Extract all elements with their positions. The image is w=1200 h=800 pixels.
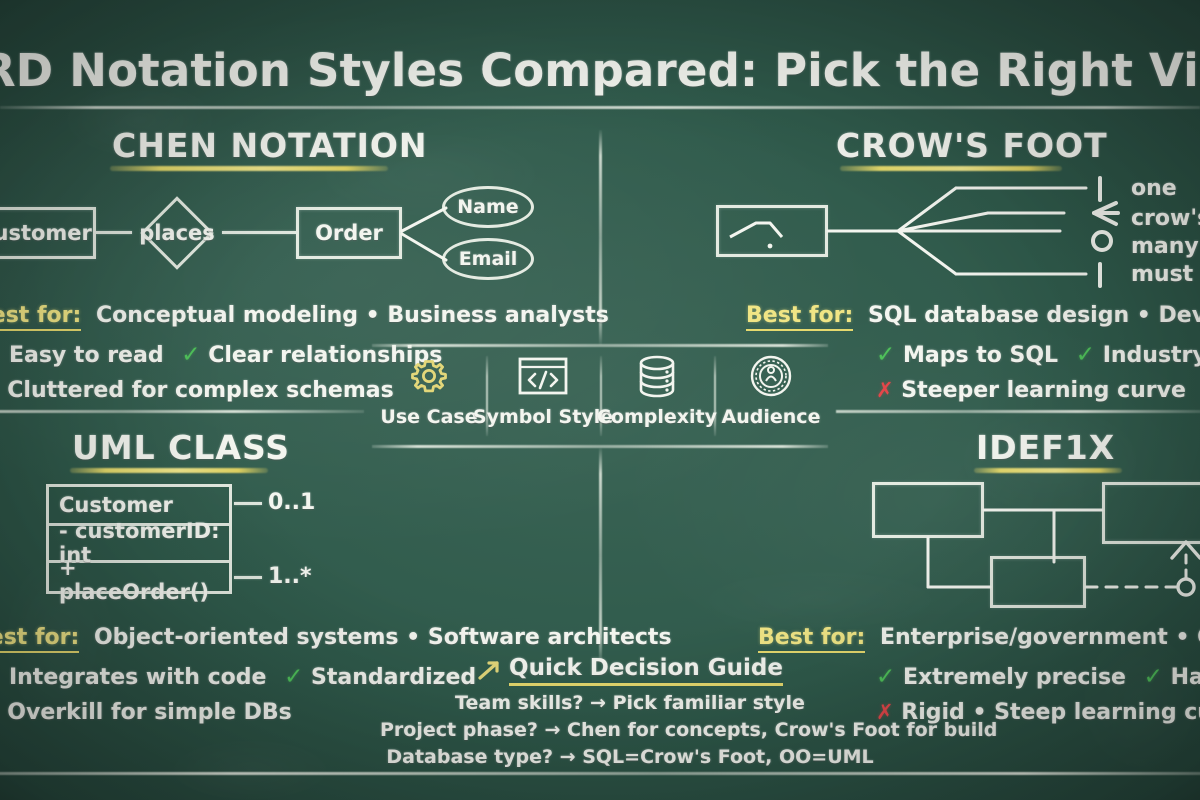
crows-foot-connector-fan — [828, 170, 1108, 295]
panel-label-symbol-style: Symbol Style — [473, 406, 613, 428]
idef1x-pro-1: Extremely precise — [903, 665, 1126, 690]
uml-heading-underline — [70, 468, 268, 473]
crows-foot-legend-must: must — [1131, 262, 1193, 287]
uml-pro-1: Integrates with code — [9, 665, 266, 690]
panel-cell-symbol-style: Symbol Style — [486, 348, 600, 444]
crows-foot-best-for-value: SQL database design • Developers — [868, 303, 1200, 328]
crows-foot-heading: CROW'S FOOT — [836, 126, 1108, 165]
panel-label-use-case: Use Case — [380, 406, 477, 428]
chen-con-1: Cluttered for complex schemas — [7, 378, 393, 403]
chen-pro-1: Easy to read — [9, 343, 164, 368]
chalkboard: ERD Notation Styles Compared: Pick the R… — [0, 0, 1200, 800]
panel-top-border — [372, 344, 828, 347]
check-icon: ✓ — [284, 664, 303, 690]
idef1x-best-for-value: Enterprise/government • Complex systems — [880, 625, 1200, 650]
crows-foot-pro-1: Maps to SQL — [903, 343, 1058, 368]
uml-heading: UML CLASS — [72, 428, 290, 467]
panel-bottom-border — [372, 445, 828, 448]
crows-foot-cons-row: ✗ Steeper learning curve — [876, 373, 1200, 408]
idef1x-best-for: Best for: Enterprise/government • Comple… — [758, 625, 1200, 650]
crows-foot-pros-cons: ✓ Maps to SQL ✓ Industry standard ✗ Stee… — [876, 338, 1200, 408]
uml-class-name: Customer — [49, 487, 229, 523]
database-icon — [636, 352, 678, 400]
title-divider — [0, 106, 1200, 109]
check-icon: ✓ — [1076, 342, 1095, 368]
arrow-up-right-icon — [477, 659, 501, 683]
crows-foot-pros-row: ✓ Maps to SQL ✓ Industry standard — [876, 338, 1200, 373]
panel-cell-audience: Audience — [714, 348, 828, 444]
panel-label-audience: Audience — [722, 406, 821, 428]
chen-entity-customer: Customer — [0, 207, 96, 259]
quick-decision-line-1: Team skills? → Pick familiar style — [380, 692, 880, 714]
chen-attribute-name: Name — [442, 186, 534, 228]
chen-attribute-email-label: Email — [459, 248, 518, 270]
chen-attribute-name-label: Name — [457, 196, 518, 218]
crows-foot-entity-glyph — [716, 205, 828, 257]
chen-line-customer-places — [96, 231, 132, 234]
idef1x-connectors — [860, 470, 1200, 615]
quick-decision-guide-title: Quick Decision Guide — [509, 655, 783, 686]
horizontal-divider-right — [836, 410, 1200, 413]
cross-icon: ✗ — [876, 378, 894, 402]
check-icon: ✓ — [1144, 664, 1163, 690]
uml-best-for-value: Object-oriented systems • Software archi… — [94, 625, 672, 650]
crows-foot-pro-2: Industry standard — [1103, 343, 1200, 368]
uml-class-box: Customer - customerID: int + placeOrder(… — [46, 484, 232, 594]
page-title: ERD Notation Styles Compared: Pick the R… — [0, 44, 1200, 97]
quick-decision-guide: Quick Decision Guide Team skills? → Pick… — [380, 655, 880, 768]
crows-foot-legend-many: many — [1131, 234, 1199, 259]
uml-class-attribute: - customerID: int — [49, 523, 229, 560]
chen-relationship-label: places — [134, 207, 220, 259]
crows-foot-legend-one: one — [1131, 176, 1177, 201]
idef1x-heading: IDEF1X — [976, 428, 1115, 467]
chen-best-for: Best for: Conceptual modeling • Business… — [0, 303, 609, 328]
uml-best-for: Best for: Object-oriented systems • Soft… — [0, 625, 672, 650]
chen-best-for-value: Conceptual modeling • Business analysts — [96, 303, 609, 328]
code-window-icon — [518, 352, 568, 400]
check-icon: ✓ — [0, 664, 1, 690]
chen-entity-order: Order — [296, 207, 402, 259]
chen-heading: CHEN NOTATION — [112, 126, 428, 165]
chen-entity-order-label: Order — [315, 221, 383, 245]
quick-decision-line-3: Database type? → SQL=Crow's Foot, OO=UML — [380, 746, 880, 768]
horizontal-divider-left — [0, 410, 364, 413]
uml-best-for-label: Best for: — [0, 625, 79, 653]
bottom-divider — [0, 772, 1200, 775]
crows-foot-con-1: Steeper learning curve — [901, 378, 1186, 403]
crows-foot-legend-crows: crow's — [1131, 206, 1200, 231]
chen-best-for-label: Best for: — [0, 303, 81, 331]
panel-cell-complexity: Complexity — [600, 348, 714, 444]
uml-class-method: + placeOrder() — [49, 560, 229, 597]
check-icon: ✓ — [181, 342, 200, 368]
chen-entity-customer-label: Customer — [0, 221, 92, 245]
quick-decision-line-2: Project phase? → Chen for concepts, Crow… — [380, 719, 880, 741]
quick-decision-guide-header: Quick Decision Guide — [477, 655, 783, 686]
uml-multiplicity-bottom: 1..* — [268, 564, 312, 589]
idef1x-pros-row: ✓ Extremely precise ✓ Handles inheritanc… — [876, 660, 1200, 695]
crows-foot-best-for-label: Best for: — [746, 303, 853, 331]
chen-attribute-email: Email — [442, 238, 534, 280]
chen-heading-underline — [110, 166, 388, 171]
gear-icon — [408, 352, 450, 400]
check-icon: ✓ — [876, 342, 895, 368]
chen-line-places-order — [222, 231, 296, 234]
seal-badge-icon — [749, 352, 793, 400]
comparison-panel: Use Case Symbol Style — [372, 344, 828, 448]
panel-label-complexity: Complexity — [597, 406, 717, 428]
uml-con-1: Overkill for simple DBs — [7, 700, 291, 725]
panel-cell-use-case: Use Case — [372, 348, 486, 444]
uml-multiplicity-top: 0..1 — [268, 490, 315, 515]
check-icon: ✓ — [0, 342, 1, 368]
crows-foot-best-for: Best for: SQL database design • Develope… — [746, 303, 1200, 328]
idef1x-pro-2: Handles inheritance — [1171, 665, 1200, 690]
uml-connector-top — [234, 502, 262, 505]
idef1x-best-for-label: Best for: — [758, 625, 865, 653]
uml-connector-bottom — [234, 576, 262, 579]
